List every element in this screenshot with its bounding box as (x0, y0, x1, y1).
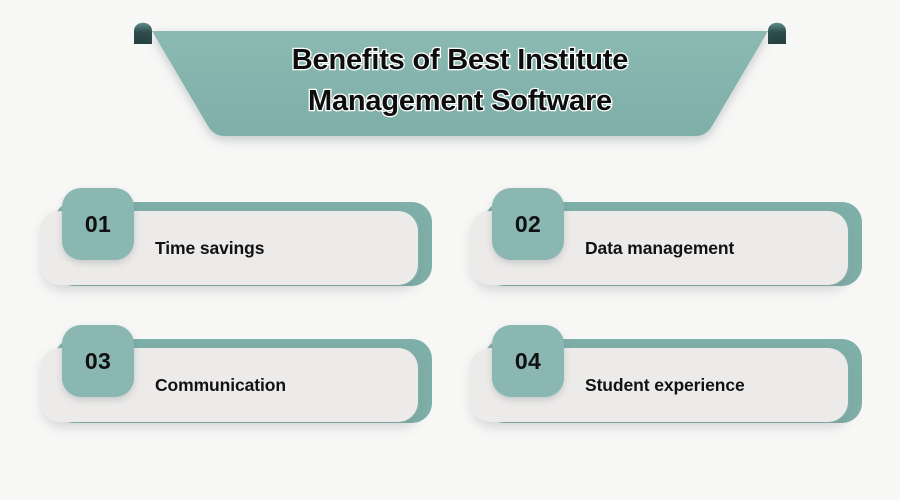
benefit-label: Communication (155, 348, 286, 422)
page-title-line-1: Benefits of Best Institute (170, 40, 750, 81)
benefit-label: Student experience (585, 348, 745, 422)
page-title: Benefits of Best Institute Management So… (170, 40, 750, 122)
ribbon-curl-right-icon (768, 23, 786, 44)
benefit-number-badge: 03 (62, 325, 134, 397)
benefit-label: Time savings (155, 211, 264, 285)
banner: Benefits of Best Institute Management So… (0, 14, 900, 144)
benefit-card-03[interactable]: 03 Communication (40, 325, 432, 423)
benefit-number: 01 (85, 213, 111, 236)
benefits-grid: 01 Time savings 02 Data management 03 Co… (0, 180, 900, 440)
benefit-number: 03 (85, 350, 111, 373)
benefit-number: 04 (515, 350, 541, 373)
page-title-line-2: Management Software (170, 81, 750, 122)
ribbon-curl-left-icon (134, 23, 152, 44)
benefit-number: 02 (515, 213, 541, 236)
benefit-card-02[interactable]: 02 Data management (470, 188, 862, 286)
infographic-poster: Benefits of Best Institute Management So… (0, 0, 900, 500)
benefit-card-01[interactable]: 01 Time savings (40, 188, 432, 286)
benefit-label: Data management (585, 211, 734, 285)
benefit-card-04[interactable]: 04 Student experience (470, 325, 862, 423)
benefit-number-badge: 01 (62, 188, 134, 260)
benefit-number-badge: 02 (492, 188, 564, 260)
benefit-number-badge: 04 (492, 325, 564, 397)
